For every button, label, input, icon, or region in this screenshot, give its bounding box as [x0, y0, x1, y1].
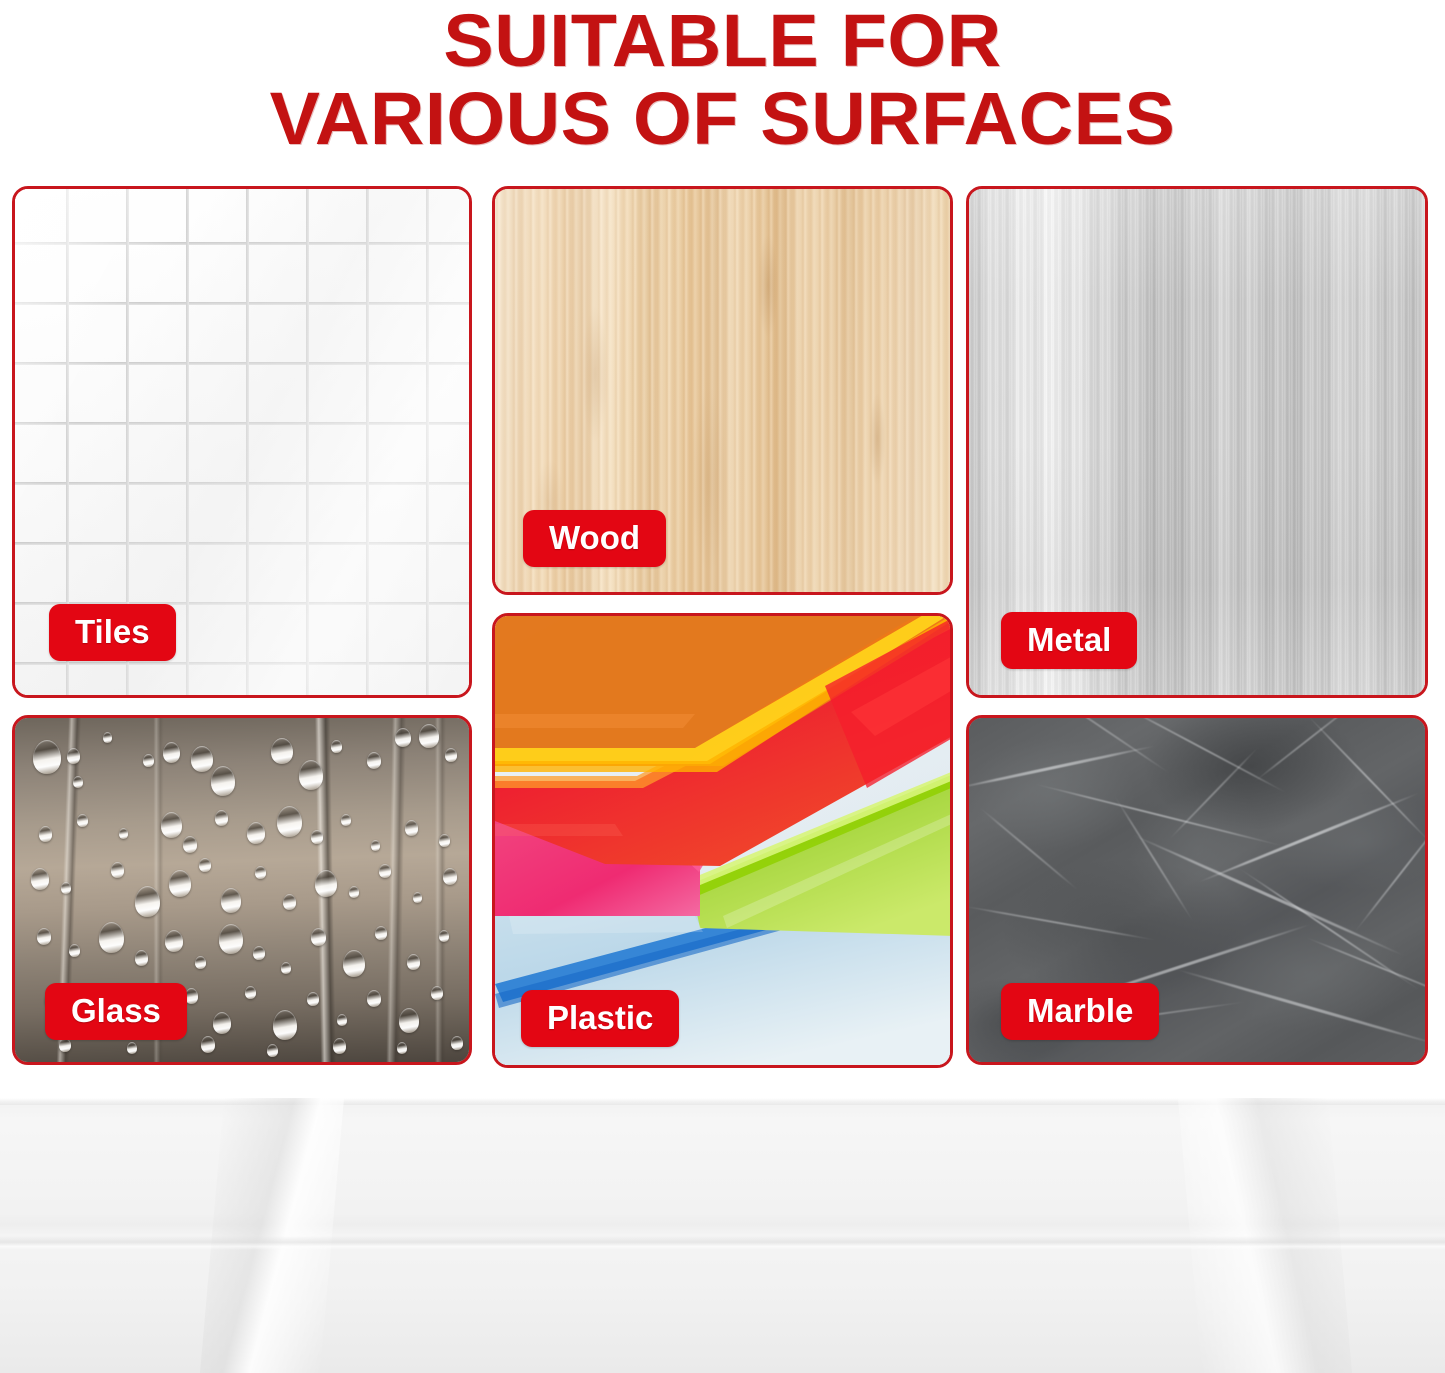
marble-vein — [1306, 718, 1425, 844]
water-droplet-icon — [419, 724, 439, 748]
water-droplet-icon — [163, 742, 180, 763]
water-droplet-icon — [431, 986, 443, 1000]
status-badge-metal: Metal — [1001, 612, 1137, 669]
water-droplet-icon — [277, 806, 302, 837]
water-droplet-icon — [333, 1038, 346, 1054]
water-droplet-icon — [161, 812, 182, 838]
water-droplet-icon — [311, 830, 323, 844]
water-droplet-icon — [199, 858, 211, 872]
water-droplet-icon — [379, 864, 391, 878]
water-droplet-icon — [299, 760, 323, 790]
water-droplet-icon — [375, 926, 387, 940]
water-droplet-icon — [439, 930, 449, 942]
surface-card-marble[interactable]: Marble — [966, 715, 1428, 1065]
water-droplet-icon — [343, 950, 365, 977]
water-droplet-icon — [169, 870, 191, 897]
water-droplet-icon — [255, 866, 266, 879]
water-droplet-icon — [201, 1036, 215, 1053]
water-droplet-icon — [443, 868, 457, 885]
status-badge-marble: Marble — [1001, 983, 1159, 1040]
water-droplet-icon — [39, 826, 52, 842]
page-title-line-2: VARIOUS OF SURFACES — [0, 80, 1445, 158]
water-droplet-icon — [281, 962, 291, 974]
water-droplet-icon — [143, 754, 154, 767]
water-droplet-icon — [215, 810, 228, 826]
water-droplet-icon — [267, 1044, 278, 1057]
water-droplet-icon — [315, 870, 337, 897]
water-droplet-icon — [341, 814, 351, 826]
water-droplet-icon — [77, 814, 88, 827]
water-droplet-icon — [99, 922, 124, 953]
water-droplet-icon — [219, 924, 243, 954]
water-droplet-icon — [399, 1008, 419, 1033]
water-droplet-icon — [73, 776, 83, 788]
water-droplet-icon — [337, 1014, 347, 1026]
marble-vein — [979, 806, 1080, 891]
water-droplet-icon — [185, 988, 198, 1004]
water-droplet-icon — [111, 862, 124, 878]
water-droplet-icon — [371, 840, 380, 851]
product-shelf-surface — [0, 1098, 1445, 1373]
marble-vein — [1305, 936, 1425, 1002]
shelf-seam-band — [0, 1236, 1445, 1250]
water-droplet-icon — [445, 748, 457, 762]
water-droplet-icon — [59, 1038, 71, 1052]
water-droplet-icon — [367, 990, 381, 1007]
water-droplet-icon — [195, 956, 206, 969]
water-droplet-icon — [127, 1042, 137, 1054]
water-droplet-icon — [33, 740, 61, 774]
surface-card-wood[interactable]: Wood — [492, 186, 953, 595]
status-badge-tiles: Tiles — [49, 604, 176, 661]
surface-card-metal[interactable]: Metal — [966, 186, 1428, 698]
water-droplet-icon — [331, 740, 342, 753]
water-droplet-icon — [271, 738, 293, 764]
water-droplet-icon — [119, 828, 128, 839]
water-droplet-icon — [61, 882, 71, 894]
water-droplet-icon — [135, 950, 148, 966]
status-badge-glass: Glass — [45, 983, 187, 1040]
water-droplet-icon — [405, 820, 418, 836]
status-badge-wood: Wood — [523, 510, 666, 567]
water-droplet-icon — [395, 728, 411, 747]
water-droplet-icon — [245, 986, 256, 999]
water-droplet-icon — [273, 1010, 297, 1040]
surfaces-infographic: SUITABLE FOR VARIOUS OF SURFACES Tiles W… — [0, 0, 1445, 1373]
water-droplet-icon — [253, 946, 265, 960]
water-droplet-icon — [67, 748, 80, 764]
marble-vein — [1253, 718, 1365, 783]
water-droplet-icon — [213, 1012, 231, 1034]
surface-card-tiles[interactable]: Tiles — [12, 186, 472, 698]
water-droplet-icon — [349, 886, 359, 898]
surface-card-glass[interactable]: Glass — [12, 715, 472, 1065]
status-badge-plastic: Plastic — [521, 990, 679, 1047]
water-droplet-icon — [165, 930, 183, 952]
water-droplet-icon — [407, 954, 420, 970]
marble-vein — [1174, 967, 1425, 1047]
water-droplet-icon — [221, 888, 241, 913]
marble-vein — [1197, 791, 1421, 884]
marble-vein — [1168, 746, 1260, 841]
water-droplet-icon — [183, 836, 197, 853]
water-droplet-icon — [283, 894, 296, 910]
water-droplet-icon — [69, 944, 80, 957]
water-droplet-icon — [211, 766, 235, 796]
water-droplet-icon — [311, 928, 326, 946]
surface-card-plastic[interactable]: Plastic — [492, 613, 953, 1068]
marble-vein — [969, 905, 1158, 942]
water-droplet-icon — [367, 752, 381, 769]
page-title: SUITABLE FOR VARIOUS OF SURFACES — [0, 2, 1445, 158]
water-droplet-icon — [451, 1036, 463, 1050]
water-droplet-icon — [413, 892, 422, 903]
marble-vein — [1033, 783, 1286, 848]
water-droplet-icon — [397, 1042, 407, 1054]
water-droplet-icon — [439, 834, 450, 847]
water-droplet-icon — [307, 992, 319, 1006]
water-droplet-icon — [37, 928, 51, 945]
water-droplet-icon — [191, 746, 213, 772]
water-droplet-icon — [103, 732, 112, 743]
water-droplet-icon — [31, 868, 49, 890]
page-title-line-1: SUITABLE FOR — [443, 0, 1001, 82]
water-droplet-icon — [247, 822, 265, 844]
water-droplet-icon — [135, 886, 160, 917]
marble-vein — [969, 744, 1157, 791]
